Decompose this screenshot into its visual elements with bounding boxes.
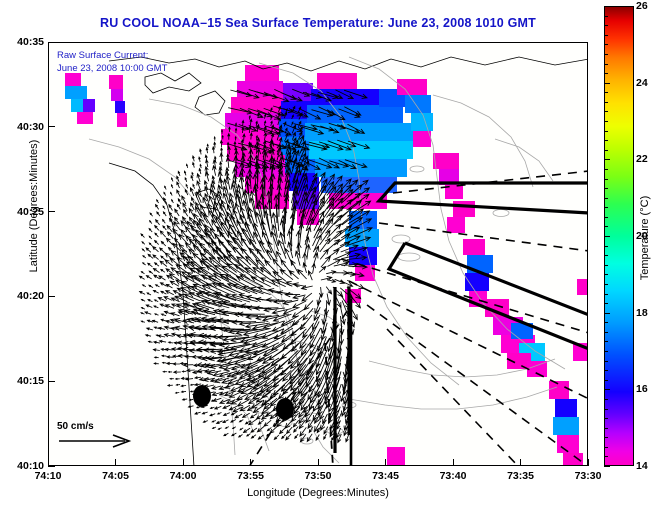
colorbar-tick-label: 14 bbox=[636, 460, 648, 472]
colorbar-minor-tick bbox=[604, 409, 608, 410]
x-tick-mark bbox=[250, 459, 251, 466]
x-tick-mark bbox=[183, 459, 184, 466]
y-tick-label: 40:10 bbox=[17, 460, 44, 472]
scale-bar-label: 50 cm/s bbox=[57, 421, 135, 432]
scale-bar-arrow-icon bbox=[57, 433, 135, 449]
colorbar-minor-tick bbox=[604, 456, 608, 457]
y-tick-mark bbox=[48, 126, 55, 127]
x-tick-mark bbox=[115, 459, 116, 466]
map-canvas bbox=[49, 43, 588, 466]
colorbar-minor-tick bbox=[604, 54, 608, 55]
x-tick-label: 73:50 bbox=[305, 470, 332, 482]
x-tick-label: 73:40 bbox=[440, 470, 467, 482]
colorbar-minor-tick bbox=[604, 370, 608, 371]
colorbar-label: Temperature (°C) bbox=[639, 158, 651, 318]
colorbar-minor-tick bbox=[604, 246, 608, 247]
y-tick-mark bbox=[48, 42, 55, 43]
colorbar-minor-tick bbox=[604, 111, 608, 112]
x-tick-label: 74:00 bbox=[170, 470, 197, 482]
colorbar-minor-tick bbox=[604, 428, 608, 429]
colorbar-minor-tick bbox=[604, 466, 608, 467]
colorbar-minor-tick bbox=[604, 284, 608, 285]
colorbar-minor-tick bbox=[604, 6, 608, 7]
y-axis-label: Latitude (Degrees:Minutes) bbox=[28, 76, 40, 336]
colorbar-minor-tick bbox=[604, 217, 608, 218]
map-plot-area[interactable]: Raw Surface Current: June 23, 2008 10:00… bbox=[48, 42, 588, 466]
colorbar-minor-tick bbox=[604, 341, 608, 342]
x-tick-label: 73:35 bbox=[507, 470, 534, 482]
x-axis-label: Longitude (Degrees:Minutes) bbox=[48, 487, 588, 499]
colorbar-minor-tick bbox=[604, 351, 608, 352]
colorbar-minor-tick bbox=[604, 255, 608, 256]
colorbar-minor-tick bbox=[604, 92, 608, 93]
colorbar-minor-tick bbox=[604, 322, 608, 323]
colorbar-tick-label: 16 bbox=[636, 383, 648, 395]
annotation-line-2: June 23, 2008 10:00 GMT bbox=[57, 62, 167, 75]
x-tick-label: 73:30 bbox=[575, 470, 602, 482]
colorbar-minor-tick bbox=[604, 198, 608, 199]
colorbar-minor-tick bbox=[604, 150, 608, 151]
colorbar-minor-tick bbox=[604, 294, 608, 295]
colorbar-minor-tick bbox=[604, 25, 608, 26]
x-tick-label: 73:55 bbox=[237, 470, 264, 482]
x-tick-label: 74:05 bbox=[102, 470, 129, 482]
annotation-line-1: Raw Surface Current: bbox=[57, 49, 167, 62]
y-tick-label: 40:15 bbox=[17, 375, 44, 387]
colorbar-minor-tick bbox=[604, 332, 608, 333]
colorbar-minor-tick bbox=[604, 207, 608, 208]
colorbar-minor-tick bbox=[604, 169, 608, 170]
colorbar-minor-tick bbox=[604, 102, 608, 103]
colorbar-minor-tick bbox=[604, 83, 608, 84]
colorbar-minor-tick bbox=[604, 380, 608, 381]
x-tick-mark bbox=[385, 459, 386, 466]
colorbar-minor-tick bbox=[604, 35, 608, 36]
colorbar-minor-tick bbox=[604, 399, 608, 400]
colorbar-minor-tick bbox=[604, 418, 608, 419]
colorbar-tick-label: 26 bbox=[636, 0, 648, 12]
colorbar-minor-tick bbox=[604, 236, 608, 237]
colorbar-tick-label: 24 bbox=[636, 77, 648, 89]
colorbar-minor-tick bbox=[604, 303, 608, 304]
x-tick-mark bbox=[588, 459, 589, 466]
colorbar-minor-tick bbox=[604, 159, 608, 160]
colorbar-minor-tick bbox=[604, 274, 608, 275]
colorbar-minor-tick bbox=[604, 179, 608, 180]
colorbar-minor-tick bbox=[604, 437, 608, 438]
colorbar-minor-tick bbox=[604, 447, 608, 448]
colorbar-minor-tick bbox=[604, 265, 608, 266]
colorbar-minor-tick bbox=[604, 16, 608, 17]
colorbar-minor-tick bbox=[604, 64, 608, 65]
colorbar-minor-tick bbox=[604, 140, 608, 141]
colorbar-minor-tick bbox=[604, 131, 608, 132]
colorbar-minor-tick bbox=[604, 361, 608, 362]
y-tick-label: 40:35 bbox=[17, 36, 44, 48]
colorbar-minor-tick bbox=[604, 226, 608, 227]
x-tick-mark bbox=[453, 459, 454, 466]
colorbar-minor-tick bbox=[604, 313, 608, 314]
colorbar-minor-tick bbox=[604, 73, 608, 74]
colorbar-minor-tick bbox=[604, 188, 608, 189]
colorbar-minor-tick bbox=[604, 121, 608, 122]
x-tick-mark bbox=[520, 459, 521, 466]
y-tick-mark bbox=[48, 466, 55, 467]
x-tick-mark bbox=[318, 459, 319, 466]
x-tick-label: 73:45 bbox=[372, 470, 399, 482]
y-tick-mark bbox=[48, 381, 55, 382]
page-title: RU COOL NOAA–15 Sea Surface Temperature:… bbox=[48, 16, 588, 30]
y-tick-mark bbox=[48, 296, 55, 297]
scale-bar: 50 cm/s bbox=[57, 421, 135, 454]
colorbar-minor-tick bbox=[604, 389, 608, 390]
figure-root: RU COOL NOAA–15 Sea Surface Temperature:… bbox=[0, 0, 651, 518]
colorbar-minor-tick bbox=[604, 44, 608, 45]
annotation-block: Raw Surface Current: June 23, 2008 10:00… bbox=[57, 49, 167, 75]
y-tick-mark bbox=[48, 211, 55, 212]
